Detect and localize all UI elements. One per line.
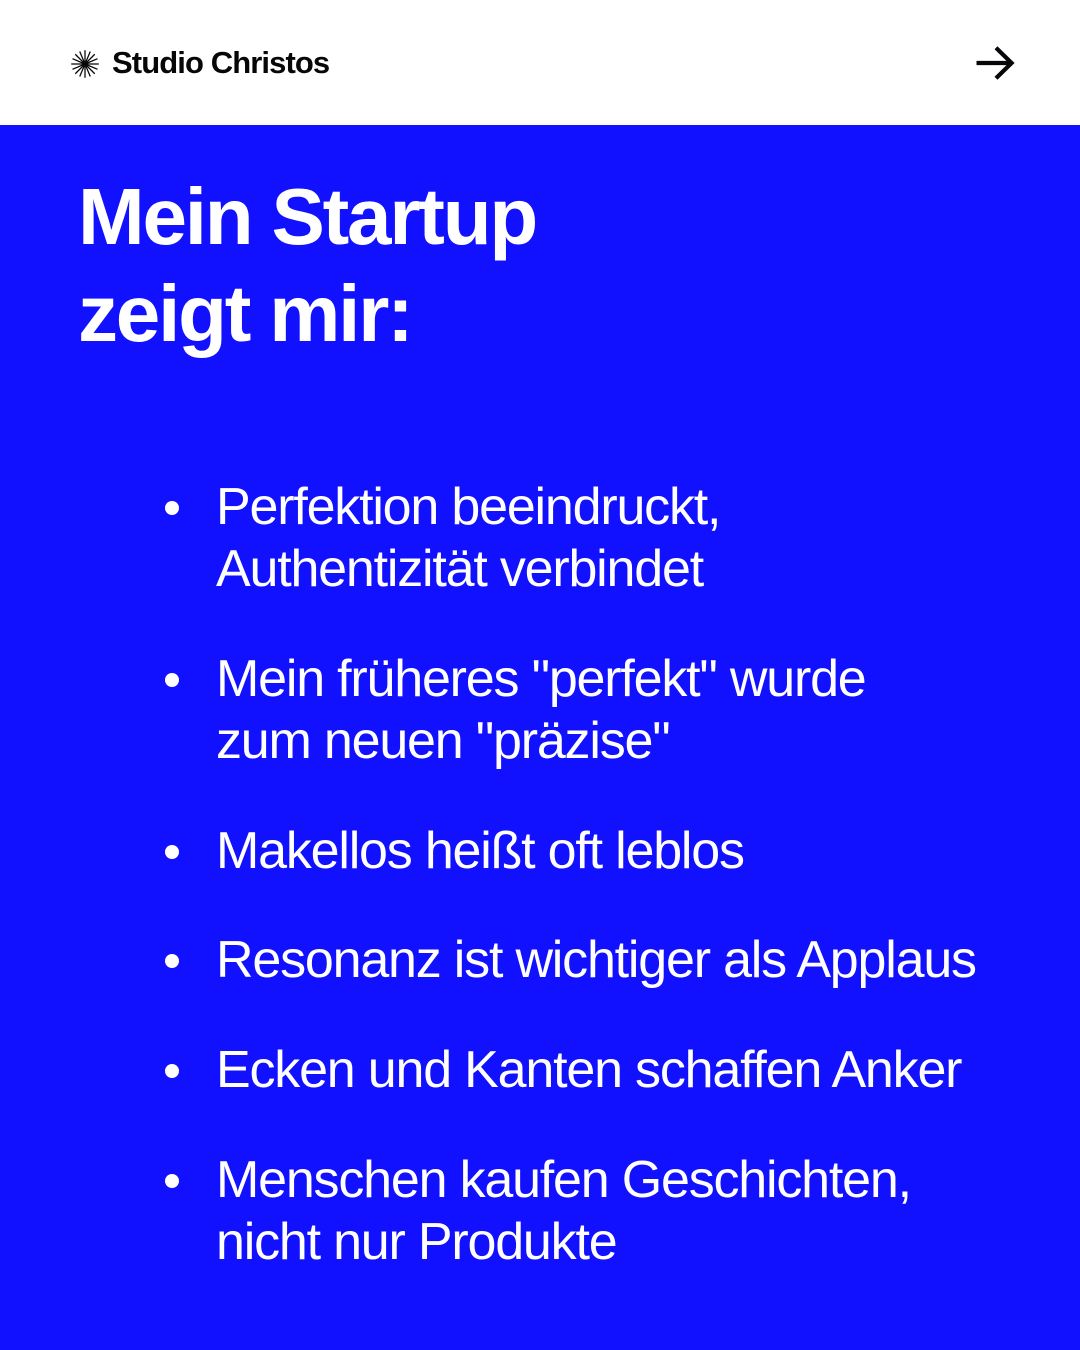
bullet-list: Perfektion beeindruckt, Authentizität ve… (158, 477, 1030, 1274)
list-item: Perfektion beeindruckt, Authentizität ve… (158, 477, 1030, 601)
content-panel: Mein Startup zeigt mir: Perfektion beein… (0, 125, 1080, 1350)
list-item: Resonanz ist wichtiger als Applaus (158, 930, 1030, 992)
brand-name: Studio Christos (112, 47, 329, 78)
list-item-line: zum neuen "präzise" (216, 711, 1030, 773)
top-bar: Studio Christos (0, 0, 1080, 125)
list-item-text: Perfektion beeindruckt, Authentizität ve… (216, 477, 1030, 601)
arrow-right-icon (975, 46, 1015, 80)
list-item-text: Ecken und Kanten schaffen Anker (216, 1040, 1030, 1102)
list-item: Mein früheres "perfekt" wurde zum neuen … (158, 649, 1030, 773)
list-item-line: Makellos heißt oft leblos (216, 821, 1030, 883)
list-item-line: Authentizität verbindet (216, 539, 1030, 601)
bullet-dot-icon (165, 501, 179, 515)
list-item-line: Mein früheres "perfekt" wurde (216, 649, 1030, 711)
next-slide-button[interactable] (972, 40, 1018, 86)
list-item-text: Menschen kaufen Geschichten, nicht nur P… (216, 1150, 1030, 1274)
list-item-text: Mein früheres "perfekt" wurde zum neuen … (216, 649, 1030, 773)
list-item: Ecken und Kanten schaffen Anker (158, 1040, 1030, 1102)
headline-line-2: zeigt mir: (78, 266, 978, 363)
list-item: Menschen kaufen Geschichten, nicht nur P… (158, 1150, 1030, 1274)
list-item-line: Ecken und Kanten schaffen Anker (216, 1040, 1030, 1102)
bullet-dot-icon (165, 1174, 179, 1188)
bullet-dot-icon (165, 954, 179, 968)
list-item-line: Perfektion beeindruckt, (216, 477, 1030, 539)
brand[interactable]: Studio Christos (70, 47, 329, 78)
bullet-dot-icon (165, 673, 179, 687)
slide-root: Studio Christos Mein Startup zeigt mir: … (0, 0, 1080, 1350)
list-item-line: Menschen kaufen Geschichten, (216, 1150, 1030, 1212)
starburst-icon (70, 49, 100, 79)
list-item-text: Resonanz ist wichtiger als Applaus (216, 930, 1030, 992)
headline-line-1: Mein Startup (78, 169, 978, 266)
bullet-dot-icon (165, 1064, 179, 1078)
page-title: Mein Startup zeigt mir: (78, 169, 978, 363)
bullet-dot-icon (165, 845, 179, 859)
list-item: Makellos heißt oft leblos (158, 821, 1030, 883)
list-item-text: Makellos heißt oft leblos (216, 821, 1030, 883)
list-item-line: Resonanz ist wichtiger als Applaus (216, 930, 1030, 992)
list-item-line: nicht nur Produkte (216, 1212, 1030, 1274)
